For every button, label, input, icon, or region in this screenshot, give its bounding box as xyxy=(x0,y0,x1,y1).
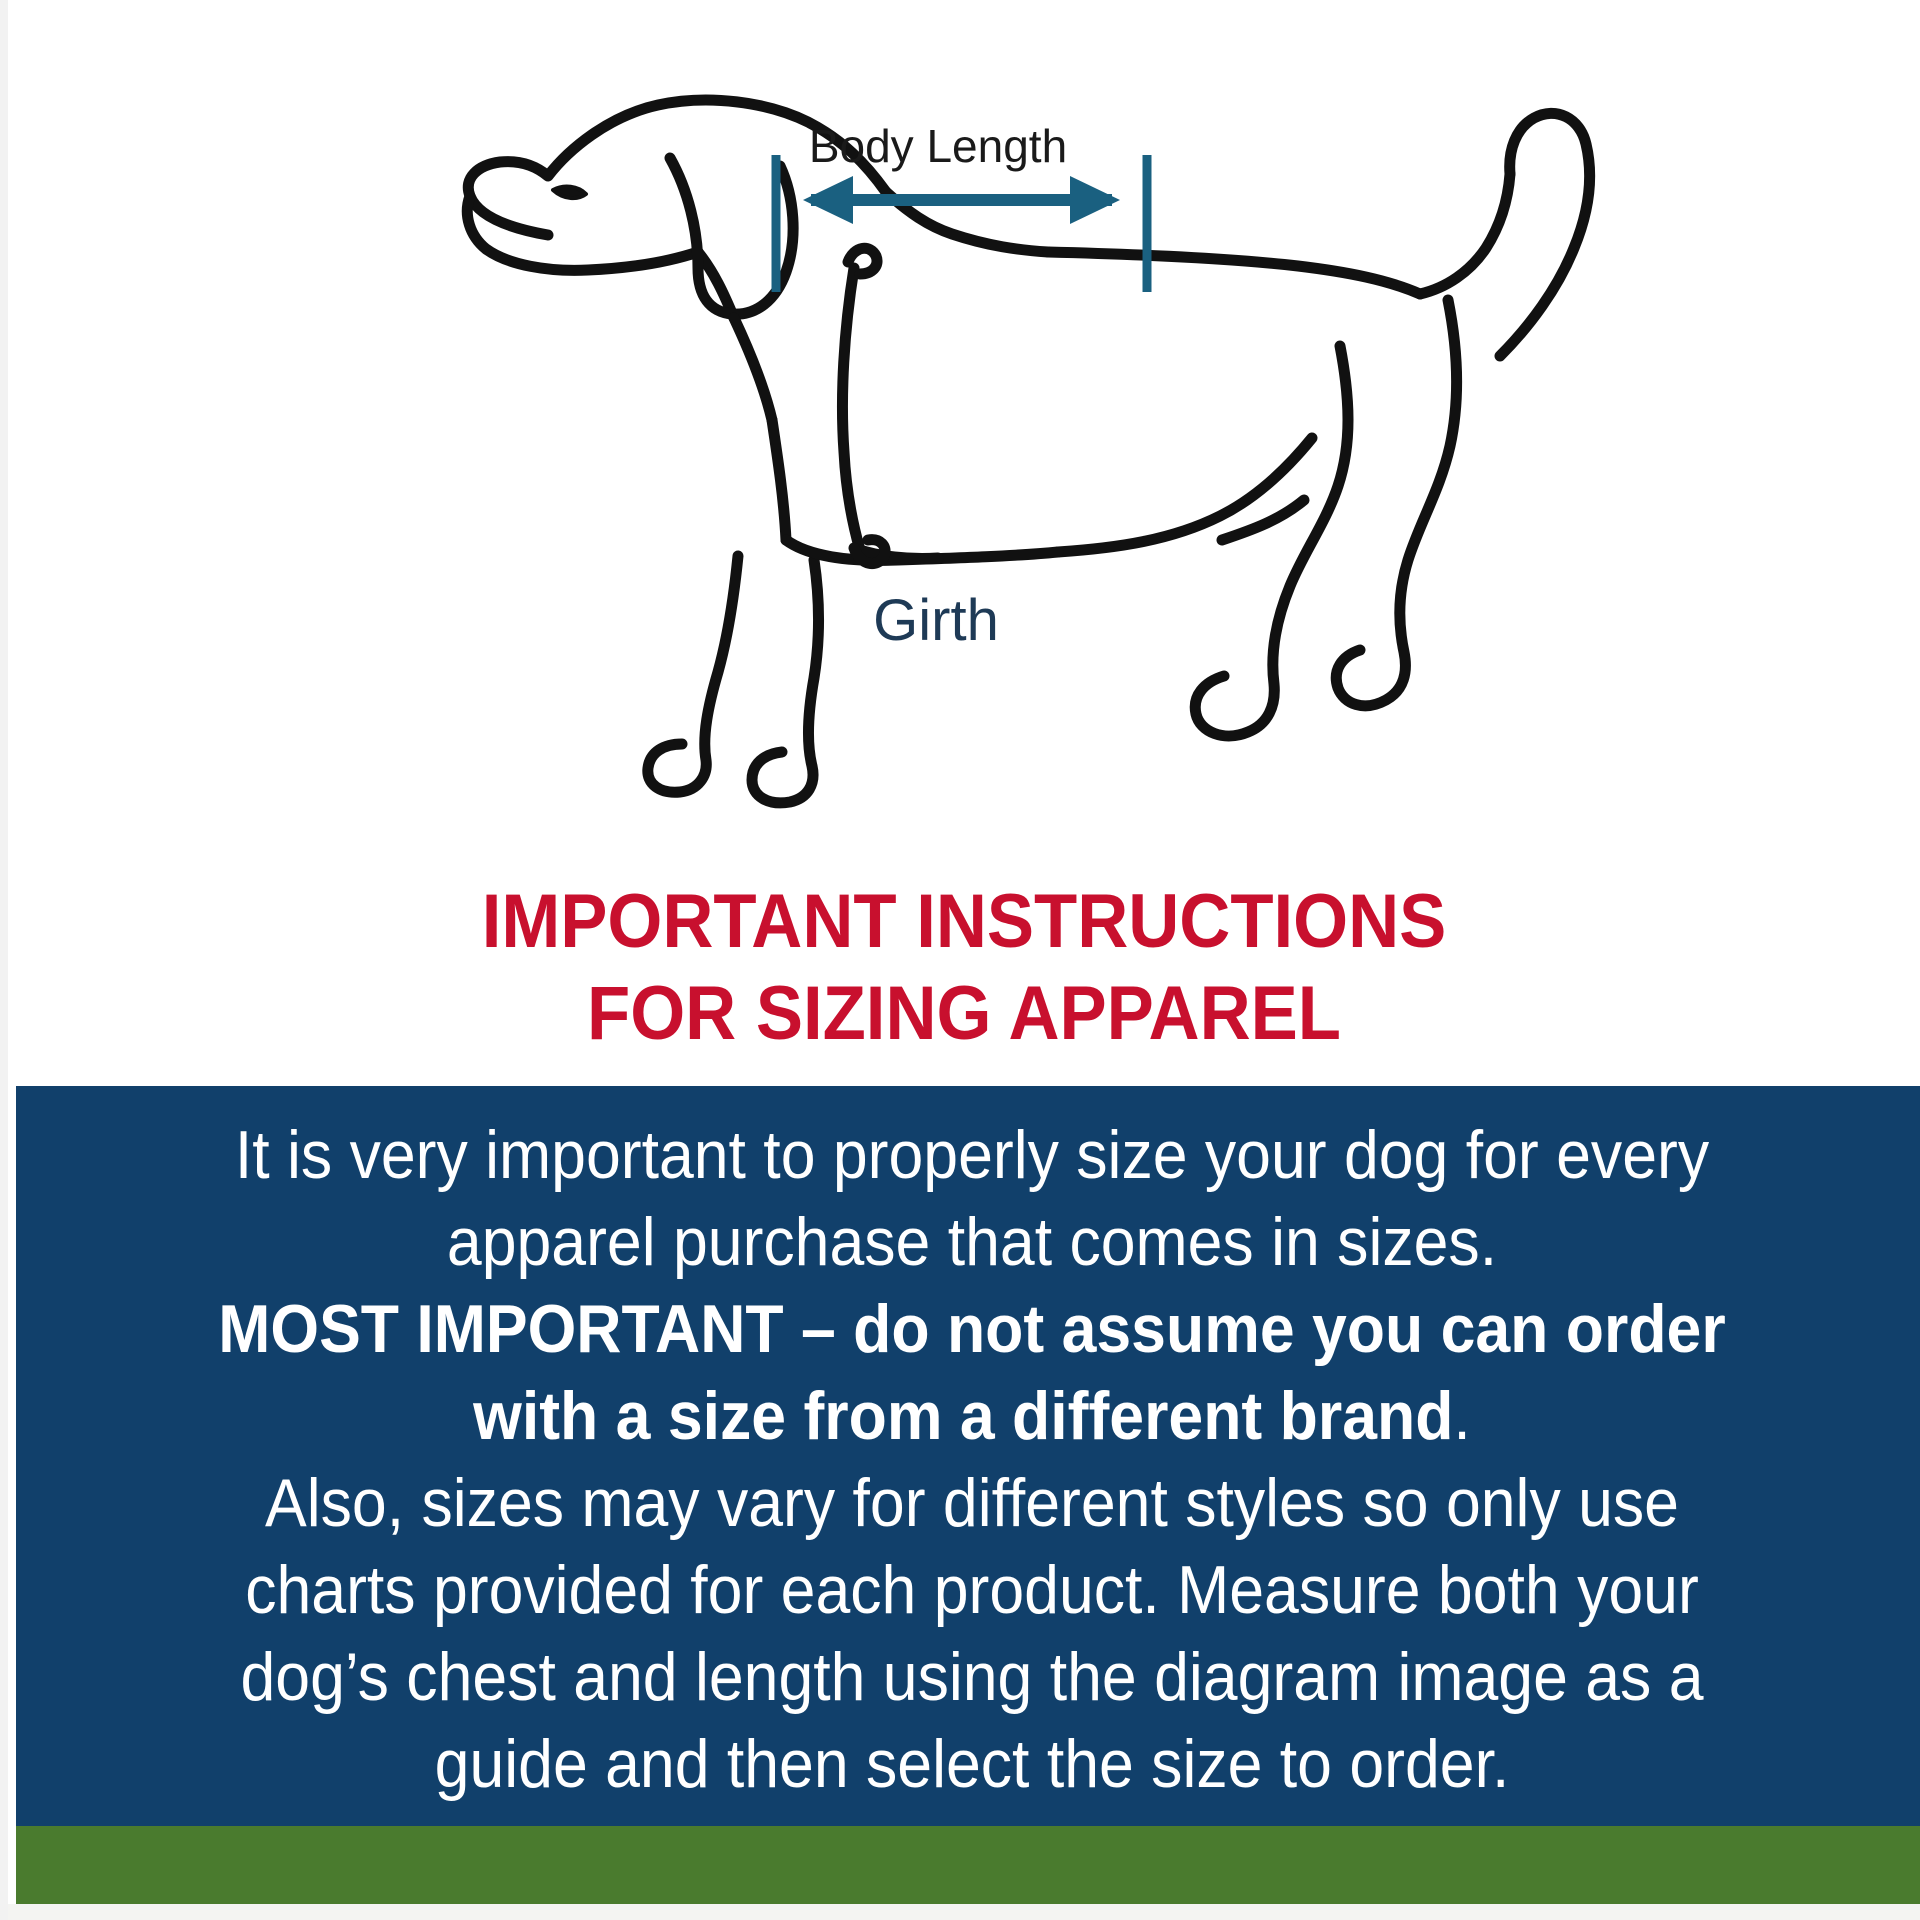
instructions-heading: IMPORTANT INSTRUCTIONS FOR SIZING APPARE… xyxy=(8,876,1920,1060)
panel-line-7: dog’s chest and length using the diagram… xyxy=(120,1634,1824,1721)
body-length-arrow-head-left xyxy=(803,176,853,224)
page-bottom-edge xyxy=(8,1904,1920,1920)
girth-label: Girth xyxy=(873,588,999,653)
panel-line-2: apparel purchase that comes in sizes. xyxy=(120,1199,1824,1286)
instructions-panel: It is very important to properly size yo… xyxy=(16,1086,1920,1826)
body-length-arrow-head-right xyxy=(1070,176,1120,224)
page-root: Body Length Girth IMPORTANT INSTRUCTIONS… xyxy=(0,0,1920,1920)
panel-line-3-bold: MOST IMPORTANT – do not assume you can o… xyxy=(218,1291,1725,1367)
panel-line-4: with a size from a different brand. xyxy=(120,1373,1824,1460)
panel-line-4-bold: with a size from a different brand xyxy=(473,1378,1453,1454)
panel-line-1: It is very important to properly size yo… xyxy=(120,1112,1824,1199)
panel-line-8: guide and then select the size to order. xyxy=(120,1721,1824,1808)
panel-line-5: Also, sizes may vary for different style… xyxy=(120,1460,1824,1547)
body-length-label: Body Length xyxy=(809,120,1067,172)
panel-line-6: charts provided for each product. Measur… xyxy=(120,1547,1824,1634)
heading-line-1: IMPORTANT INSTRUCTIONS xyxy=(75,876,1853,968)
footer-green-bar xyxy=(16,1826,1920,1904)
panel-line-4-period: . xyxy=(1453,1378,1470,1454)
heading-line-2: FOR SIZING APPAREL xyxy=(75,968,1853,1060)
content-card: Body Length Girth IMPORTANT INSTRUCTIONS… xyxy=(8,0,1920,1920)
panel-line-3: MOST IMPORTANT – do not assume you can o… xyxy=(120,1286,1824,1373)
body-length-measure-group xyxy=(776,155,1147,292)
